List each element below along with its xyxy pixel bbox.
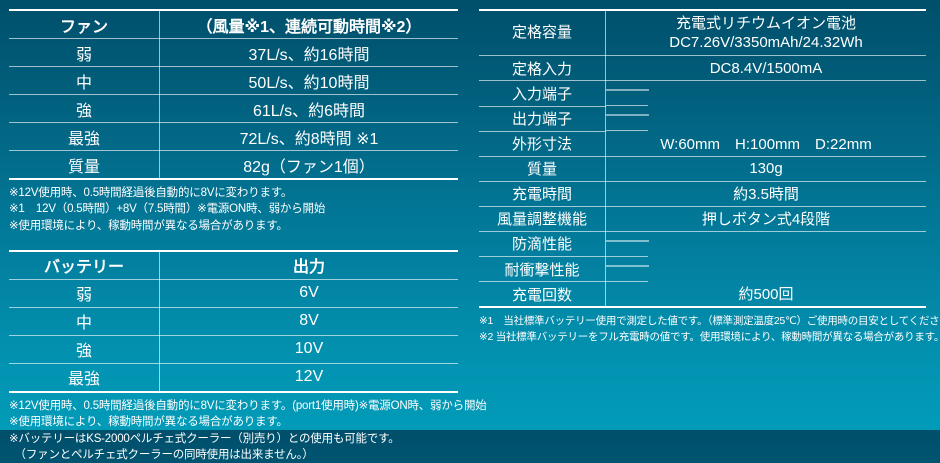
spec-row-value: DC8.4V/1500mA (606, 56, 927, 81)
battery-row-value: 6V (160, 279, 459, 307)
spec-row-label: 防滴性能 (479, 231, 606, 257)
battery-row-value: 8V (160, 307, 459, 335)
battery-row-label: 弱 (9, 279, 160, 307)
fan-notes: ※12V使用時、0.5時間経過後自動的に8Vに変わります。 ※1 12V（0.5… (9, 185, 458, 234)
fan-note-line: ※1 12V（0.5時間）+8V（7.5時間）※電源ON時、弱から開始 (9, 201, 458, 217)
table-row: 中 8V (9, 307, 458, 335)
fan-spec-table: ファン （風量※1、連続可動時間※2） 弱 37L/s、約16時間 中 50L/… (9, 9, 458, 180)
battery-notes: ※12V使用時、0.5時間経過後自動的に8Vに変わります。(port1使用時)※… (9, 398, 458, 463)
battery-row-value: 10V (160, 335, 459, 363)
fan-row-value: 82g（ファン1個） (160, 151, 459, 180)
spec-row-value: ——— (606, 106, 648, 131)
spec-row-value: 約3.5時間 (606, 181, 927, 206)
right-note-line: ※2 当社標準バッテリーをフル充電時の値です。使用環境により、稼動時間が異なる場… (479, 330, 926, 346)
spec-row-value: ——— (606, 257, 648, 282)
table-row: 弱 6V (9, 279, 458, 307)
fan-row-label: 弱 (9, 39, 160, 67)
battery-detail-table: 定格容量 充電式リチウムイオン電池 DC7.26V/3350mAh/24.32W… (479, 9, 926, 308)
spec-row-label: 質量 (479, 156, 606, 181)
spec-row-label: 充電時間 (479, 181, 606, 206)
fan-row-value: 61L/s、約6時間 (160, 95, 459, 123)
fan-row-value: 37L/s、約16時間 (160, 39, 459, 67)
battery-row-label: 中 (9, 307, 160, 335)
table-row: 中 50L/s、約10時間 (9, 67, 458, 95)
fan-row-label: 強 (9, 95, 160, 123)
spec-row-label: 入力端子 (479, 81, 606, 107)
table-row: 外形寸法 W:60mm H:100mm D:22mm (479, 131, 926, 156)
fan-row-label: 質量 (9, 151, 160, 180)
spec-row-value: W:60mm H:100mm D:22mm (606, 131, 927, 156)
spec-row-label: 定格容量 (479, 10, 606, 56)
table-row-header: ファン （風量※1、連続可動時間※2） (9, 10, 458, 39)
battery-table-body: バッテリー 出力 弱 6V 中 8V 強 10V 最強 12V (9, 251, 458, 392)
battery-note-line: （ファンとペルチェ式クーラーの同時使用は出来ません。） (9, 447, 458, 463)
table-row: 定格入力 DC8.4V/1500mA (479, 56, 926, 81)
fan-row-label: 最強 (9, 123, 160, 151)
fan-note-line: ※使用環境により、稼動時間が異なる場合があります。 (9, 218, 458, 234)
spec-value-line2: DC7.26V/3350mAh/24.32Wh (606, 33, 926, 52)
fan-header-value: （風量※1、連続可動時間※2） (160, 10, 459, 39)
spec-value-line1: 充電式リチウムイオン電池 (606, 14, 926, 33)
right-column: 定格容量 充電式リチウムイオン電池 DC7.26V/3350mAh/24.32W… (470, 0, 940, 430)
fan-note-line: ※12V使用時、0.5時間経過後自動的に8Vに変わります。 (9, 185, 458, 201)
fan-row-value: 50L/s、約10時間 (160, 67, 459, 95)
battery-header-label: バッテリー (9, 251, 160, 280)
table-row: 充電時間 約3.5時間 (479, 181, 926, 206)
table-row-header: バッテリー 出力 (9, 251, 458, 280)
table-row: 出力端子 ——— (479, 106, 926, 131)
table-row: 弱 37L/s、約16時間 (9, 39, 458, 67)
battery-row-value: 12V (160, 363, 459, 392)
table-row: 強 10V (9, 335, 458, 363)
fan-row-label: 中 (9, 67, 160, 95)
spec-row-label: 定格入力 (479, 56, 606, 81)
spec-row-label: 風量調整機能 (479, 206, 606, 231)
table-row: 質量 82g（ファン1個） (9, 151, 458, 180)
right-notes: ※1 当社標準バッテリー使用で測定した値です。（標準測定温度25℃）ご使用時の目… (479, 314, 926, 346)
spec-row-value: 押しボタン式4段階 (606, 206, 927, 231)
battery-row-label: 強 (9, 335, 160, 363)
section-gap (9, 234, 458, 250)
spec-row-value: 130g (606, 156, 927, 181)
battery-spec-table: バッテリー 出力 弱 6V 中 8V 強 10V 最強 12V (9, 250, 458, 393)
battery-row-label: 最強 (9, 363, 160, 392)
battery-detail-body: 定格容量 充電式リチウムイオン電池 DC7.26V/3350mAh/24.32W… (479, 10, 926, 307)
table-row: 充電回数 約500回 (479, 282, 926, 308)
table-row: 耐衝撃性能 ——— (479, 257, 926, 282)
battery-note-line: ※使用環境により、稼動時間が異なる場合があります。 (9, 414, 458, 430)
left-column: ファン （風量※1、連続可動時間※2） 弱 37L/s、約16時間 中 50L/… (0, 0, 470, 430)
table-row: 防滴性能 ——— (479, 231, 926, 257)
spec-row-label: 充電回数 (479, 282, 606, 308)
table-row: 定格容量 充電式リチウムイオン電池 DC7.26V/3350mAh/24.32W… (479, 10, 926, 56)
table-row: 風量調整機能 押しボタン式4段階 (479, 206, 926, 231)
spec-row-label: 出力端子 (479, 106, 606, 131)
spec-row-value: ——— (606, 232, 648, 257)
spec-row-value: 充電式リチウムイオン電池 DC7.26V/3350mAh/24.32Wh (606, 10, 927, 56)
table-row: 入力端子 ——— (479, 81, 926, 107)
table-row: 最強 72L/s、約8時間 ※1 (9, 123, 458, 151)
spec-sheet: ファン （風量※1、連続可動時間※2） 弱 37L/s、約16時間 中 50L/… (0, 0, 940, 430)
table-row: 質量 130g (479, 156, 926, 181)
spec-row-value: 約500回 (606, 282, 927, 308)
spec-row-label: 外形寸法 (479, 131, 606, 156)
fan-header-label: ファン (9, 10, 160, 39)
right-note-line: ※1 当社標準バッテリー使用で測定した値です。（標準測定温度25℃）ご使用時の目… (479, 314, 926, 330)
battery-header-value: 出力 (160, 251, 459, 280)
fan-table-body: ファン （風量※1、連続可動時間※2） 弱 37L/s、約16時間 中 50L/… (9, 10, 458, 179)
spec-row-value: ——— (606, 81, 648, 106)
table-row: 最強 12V (9, 363, 458, 392)
battery-note-line: ※12V使用時、0.5時間経過後自動的に8Vに変わります。(port1使用時)※… (9, 398, 458, 414)
spec-row-label: 耐衝撃性能 (479, 257, 606, 282)
battery-note-line: ※バッテリーはKS-2000ペルチェ式クーラー（別売り）との使用も可能です。 (9, 431, 458, 447)
fan-row-value: 72L/s、約8時間 ※1 (160, 123, 459, 151)
table-row: 強 61L/s、約6時間 (9, 95, 458, 123)
